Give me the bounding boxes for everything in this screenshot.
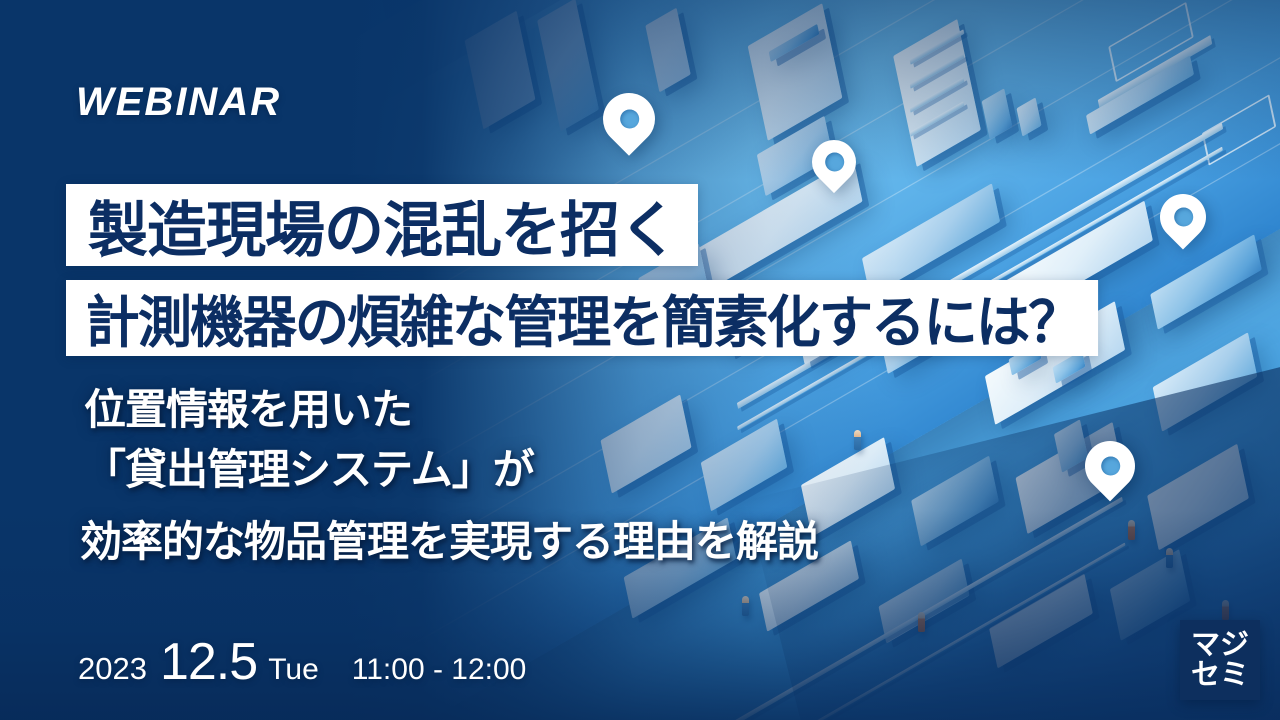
page-title-line-2: 計測機器の煩雑な管理を簡素化するには？ <box>66 280 1098 356</box>
subtitle-line-3: 効率的な物品管理を実現する理由を解説 <box>80 508 818 569</box>
subtitle-line-1: 位置情報を用いた <box>84 376 412 437</box>
logo-line-1: マジ <box>1191 630 1249 660</box>
eyebrow-label: WEBINAR <box>76 80 281 125</box>
webinar-banner: WEBINAR 製造現場の混乱を招く 計測機器の煩雑な管理を簡素化するには？ 位… <box>0 0 1280 720</box>
majiseminar-logo: マジ セミ <box>1180 620 1260 700</box>
subtitle-line-2: 「貸出管理システム」が <box>84 436 534 497</box>
schedule-weekday: Tue <box>268 653 319 687</box>
banner-content: WEBINAR 製造現場の混乱を招く 計測機器の煩雑な管理を簡素化するには？ 位… <box>0 0 1280 720</box>
schedule-day: 12.5 <box>160 632 257 692</box>
schedule-bar: 2023 12.5 Tue 11:00 - 12:00 <box>78 632 526 692</box>
schedule-year: 2023 <box>78 651 147 687</box>
schedule-time: 11:00 - 12:00 <box>352 653 527 687</box>
logo-line-2: セミ <box>1191 660 1249 690</box>
page-title-line-1: 製造現場の混乱を招く <box>66 184 698 266</box>
